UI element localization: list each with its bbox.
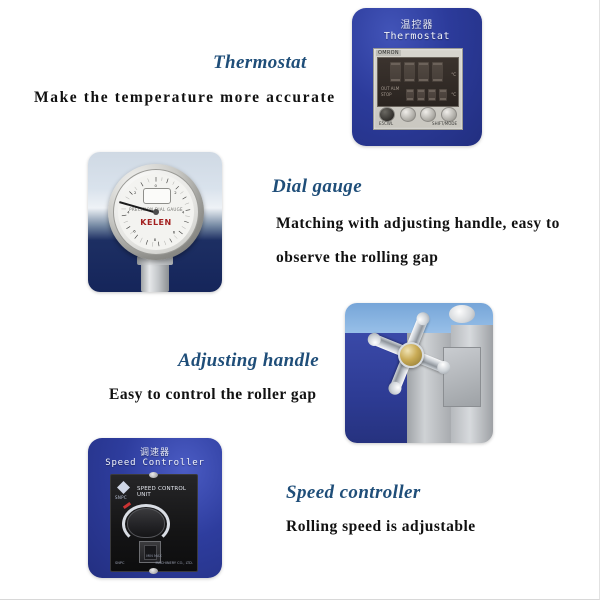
- body-thermostat-line1: Make the temperature more accurate: [34, 89, 336, 107]
- speed-footer: SNPC MACHINERY CO., LTD.: [115, 561, 193, 565]
- heading-thermostat: Thermostat: [213, 52, 307, 74]
- gauge-brand-logo: KELEN: [118, 218, 194, 227]
- speed-screw-bottom: [149, 568, 158, 574]
- heading-adjusting-handle: Adjusting handle: [178, 350, 319, 372]
- gauge-body: 024 686 42 PRECISION DIAL GAUGE KELEN: [108, 164, 204, 260]
- thermostat-controller-unit: OMRON OUT ALMSTOP °C °C E5CWL: [373, 48, 463, 130]
- gauge-stem: [141, 256, 169, 292]
- svg-text:2: 2: [174, 190, 177, 195]
- body-adjusting-handle-line1: Easy to control the roller gap: [109, 386, 316, 404]
- speed-controller-photo: 调速器 Speed Controller SNPC SPEED CONTROL …: [88, 438, 222, 578]
- speed-display-window: [139, 541, 161, 563]
- thermostat-mode-button[interactable]: [400, 107, 416, 122]
- svg-text:6: 6: [173, 229, 176, 234]
- speed-control-unit: SNPC SPEED CONTROL UNIT MIN MAX SNPC MAC…: [110, 474, 198, 572]
- handle-center-hub: [398, 342, 424, 368]
- speed-unit-title: SPEED CONTROL UNIT: [137, 486, 197, 498]
- heading-speed-controller: Speed controller: [286, 482, 421, 504]
- speed-knob-assembly[interactable]: [125, 507, 167, 537]
- speed-brand-label: SNPC: [115, 495, 127, 500]
- thermostat-power-button[interactable]: [379, 107, 395, 122]
- thermostat-footer: E5CWL SHIFT/MODE: [377, 121, 459, 128]
- gauge-needle-hub: [153, 209, 159, 215]
- machine-side-panel: [443, 347, 481, 407]
- thermostat-model-label: E5CWL: [379, 121, 393, 128]
- adjusting-handle-photo: [345, 303, 493, 443]
- gauge-sub-dial: [143, 188, 171, 204]
- thermostat-pv-digits: [390, 62, 443, 82]
- body-dial-gauge-line1: Matching with adjusting handle, easy to: [276, 215, 560, 233]
- body-speed-controller-line1: Rolling speed is adjustable: [286, 518, 476, 536]
- gauge-face: 024 686 42 PRECISION DIAL GAUGE KELEN: [118, 174, 194, 250]
- thermostat-unit-sv: °C: [451, 92, 456, 97]
- machine-top-bolt: [449, 305, 475, 323]
- speed-scale-note: MIN MAX: [111, 554, 197, 558]
- svg-text:8: 8: [154, 237, 157, 242]
- thermostat-brand-label: OMRON: [376, 50, 401, 56]
- thermostat-lcd-indicators: OUT ALMSTOP: [381, 86, 399, 98]
- svg-text:6: 6: [133, 229, 136, 234]
- svg-text:2: 2: [134, 190, 137, 195]
- speed-screw-top: [149, 472, 158, 478]
- thermostat-photo: 温控器 Thermostat OMRON OUT ALMSTOP °C °C: [352, 8, 482, 146]
- speed-brand-diamond-icon: [117, 481, 130, 494]
- gauge-bezel-ring: 024 686 42 PRECISION DIAL GAUGE KELEN: [113, 169, 199, 255]
- speed-footer-company: MACHINERY CO., LTD.: [155, 561, 193, 565]
- heading-dial-gauge: Dial gauge: [272, 176, 362, 198]
- speed-label-cn: 调速器: [88, 445, 222, 458]
- thermostat-down-button[interactable]: [420, 107, 436, 122]
- thermostat-lcd-display: OUT ALMSTOP °C °C: [377, 57, 459, 107]
- thermostat-sv-digits: [406, 89, 447, 101]
- thermostat-up-button[interactable]: [441, 107, 457, 122]
- promo-feature-sheet: Thermostat Make the temperature more acc…: [0, 0, 600, 600]
- thermostat-shift-label: SHIFT/MODE: [432, 121, 457, 128]
- thermostat-label-cn: 温控器: [352, 16, 482, 31]
- speed-rotary-knob[interactable]: [127, 508, 165, 538]
- thermostat-unit-pv: °C: [451, 72, 456, 77]
- thermostat-label-en: Thermostat: [352, 31, 482, 42]
- body-dial-gauge-line2: observe the rolling gap: [276, 249, 438, 267]
- dial-gauge-photo: 024 686 42 PRECISION DIAL GAUGE KELEN: [88, 152, 222, 292]
- speed-footer-brand: SNPC: [115, 561, 124, 565]
- speed-label-en: Speed Controller: [88, 458, 222, 468]
- thermostat-button-row[interactable]: [377, 107, 459, 122]
